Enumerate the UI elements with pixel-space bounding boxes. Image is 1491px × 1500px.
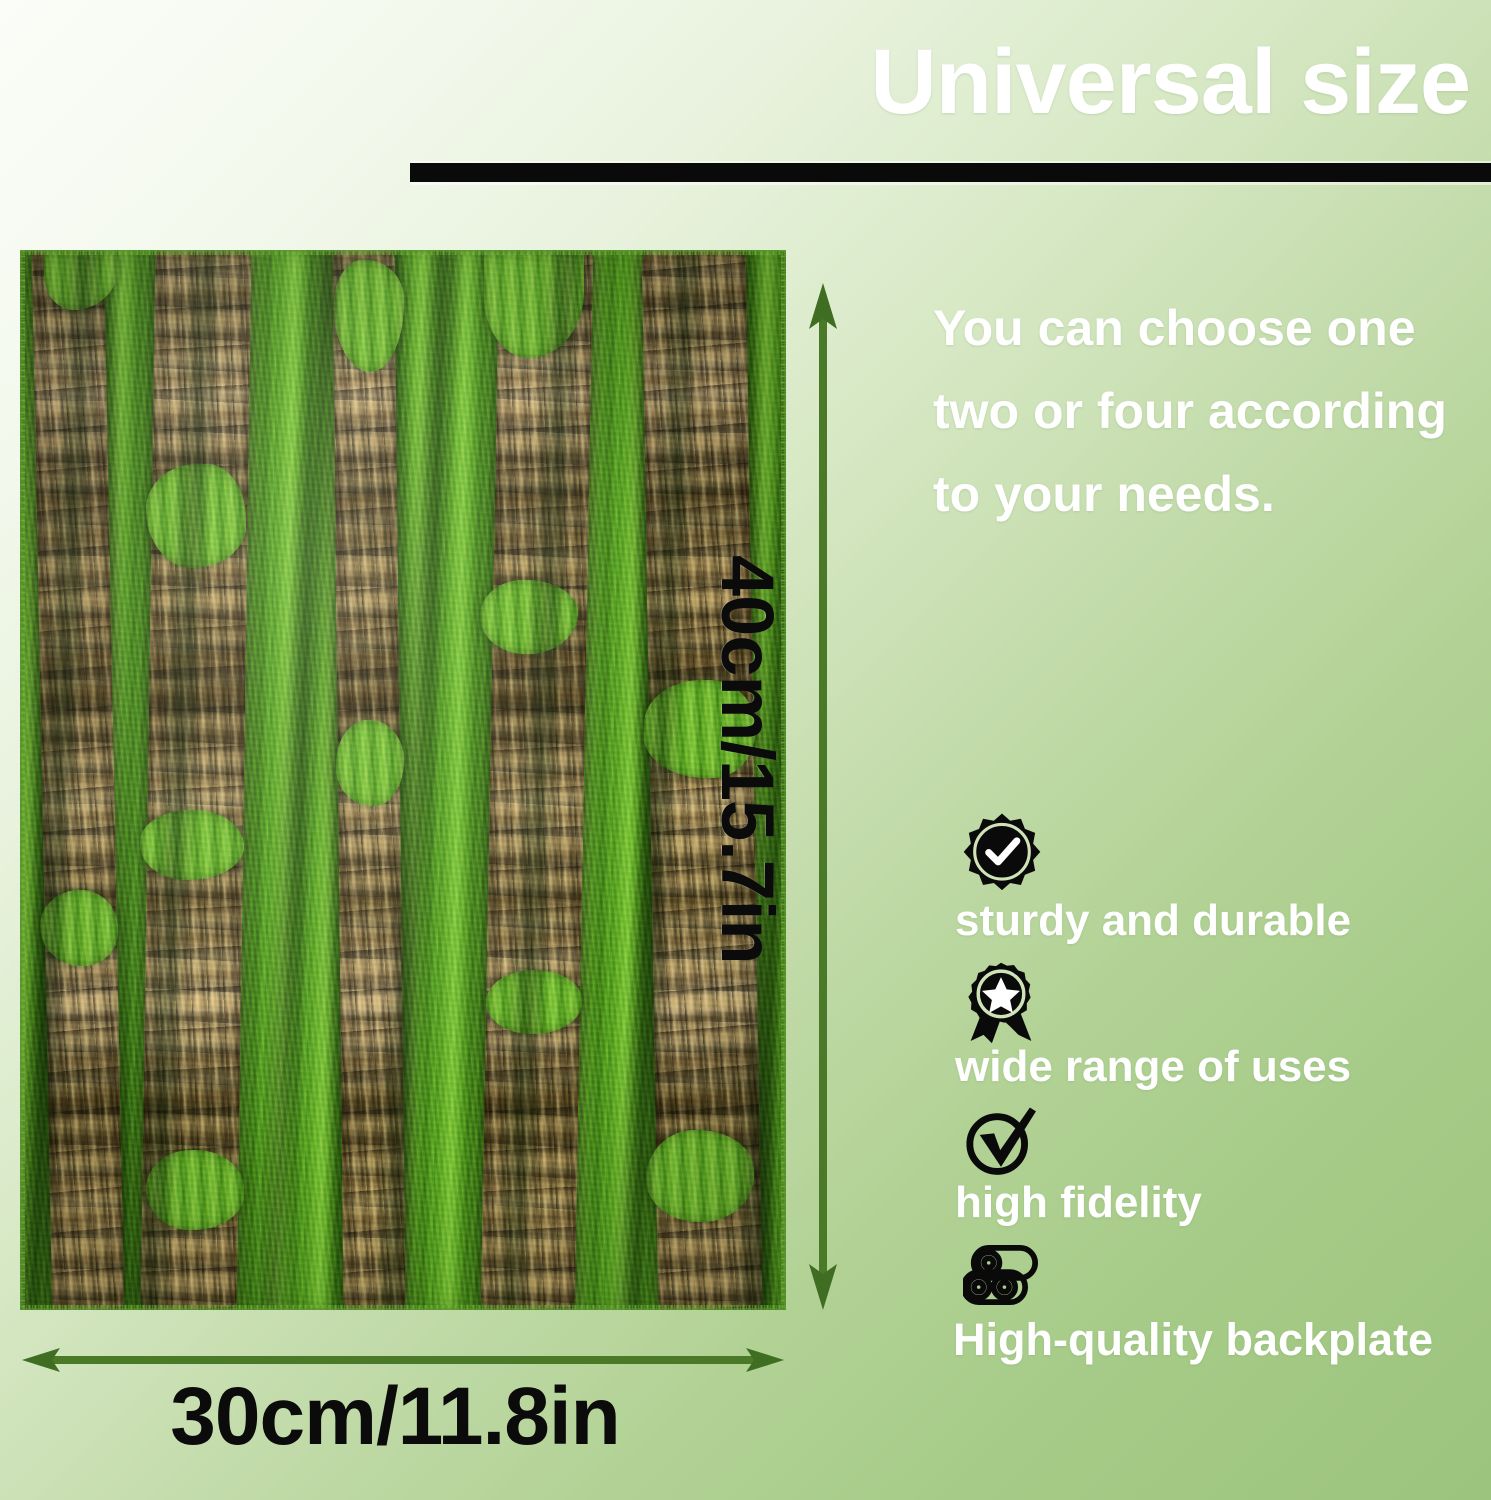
feature-label: High-quality backplate <box>953 1314 1475 1366</box>
title-divider-rule <box>410 163 1491 182</box>
feature-item: sturdy and durable <box>955 812 1475 946</box>
intro-line-2: two or four according <box>933 370 1478 453</box>
product-image <box>20 250 786 1310</box>
feature-list: sturdy and durable wide range of uses <box>955 812 1475 1380</box>
feature-item: wide range of uses <box>955 962 1475 1092</box>
width-dimension-arrow-icon <box>22 1348 784 1372</box>
check-circle-icon <box>963 1106 1475 1176</box>
feature-label: high fidelity <box>955 1178 1475 1228</box>
intro-line-1: You can choose one <box>933 287 1478 370</box>
page-title: Universal size <box>420 34 1470 131</box>
award-ribbon-star-icon <box>963 962 1475 1040</box>
stacked-logs-icon <box>963 1242 1475 1312</box>
intro-line-3: to your needs. <box>933 453 1478 536</box>
width-dimension-label: 30cm/11.8in <box>0 1370 790 1464</box>
feature-label: wide range of uses <box>955 1042 1475 1092</box>
feature-label: sturdy and durable <box>955 896 1475 946</box>
badge-check-icon <box>963 812 1475 890</box>
photo-edge <box>20 250 786 1310</box>
feature-item: High-quality backplate <box>955 1242 1475 1366</box>
intro-copy: You can choose one two or four according… <box>933 287 1478 536</box>
feature-item: high fidelity <box>955 1106 1475 1228</box>
height-dimension-arrow-icon <box>806 283 840 1310</box>
product-infographic: Universal size <box>0 0 1491 1500</box>
height-dimension-label: 40cm/15.7in <box>705 555 790 964</box>
